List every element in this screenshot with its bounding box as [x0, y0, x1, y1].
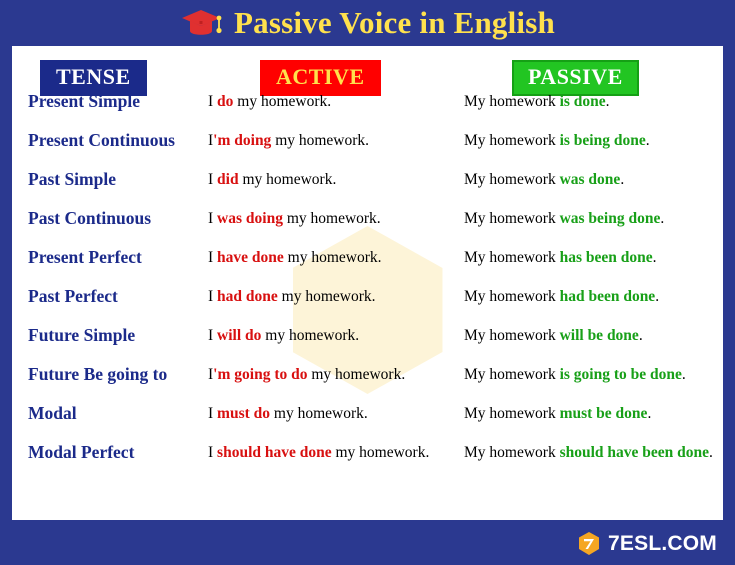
text-segment: my homework.: [278, 288, 376, 305]
text-segment: my homework.: [284, 249, 382, 266]
text-segment: .: [646, 132, 650, 149]
tense-label: Present Simple: [28, 92, 140, 111]
tense-label: Past Continuous: [28, 209, 151, 228]
text-segment: .: [709, 444, 713, 461]
table-row: ModalI must do my homework.My homework m…: [12, 404, 723, 443]
text-segment: had been done: [560, 288, 656, 305]
table-body: Present SimpleI do my homework.My homewo…: [12, 92, 723, 482]
header: Passive Voice in English: [0, 0, 735, 44]
text-segment: my homework.: [270, 405, 368, 422]
tense-label: Past Perfect: [28, 287, 118, 306]
table-row: Present SimpleI do my homework.My homewo…: [12, 92, 723, 131]
tense-label: Past Simple: [28, 170, 116, 189]
active-sentence: I did my homework.: [208, 170, 336, 189]
text-segment: must be done: [560, 405, 648, 422]
footer: 7ESL.COM: [0, 522, 735, 565]
text-segment: my homework.: [239, 171, 337, 188]
active-sentence: I have done my homework.: [208, 248, 382, 267]
text-segment: I: [208, 93, 217, 110]
text-segment: My homework: [464, 171, 560, 188]
tense-label: Present Perfect: [28, 248, 142, 267]
text-segment: 'm doing: [213, 132, 271, 149]
table-header-row: TENSE ACTIVE PASSIVE: [12, 46, 723, 92]
text-segment: did: [217, 171, 239, 188]
passive-sentence: My homework was being done.: [464, 209, 664, 228]
text-segment: .: [655, 288, 659, 305]
table-row: Future Be going toI'm going to do my hom…: [12, 365, 723, 404]
passive-sentence: My homework must be done.: [464, 404, 651, 423]
text-segment: I: [208, 444, 217, 461]
active-sentence: I should have done my homework.: [208, 443, 429, 462]
text-segment: will do: [217, 327, 261, 344]
text-segment: My homework: [464, 210, 560, 227]
text-segment: have done: [217, 249, 284, 266]
text-segment: I: [208, 405, 217, 422]
text-segment: .: [606, 93, 610, 110]
text-segment: should have done: [217, 444, 332, 461]
text-segment: I: [208, 288, 217, 305]
text-segment: is going to be done: [560, 366, 682, 383]
text-segment: my homework.: [271, 132, 369, 149]
passive-sentence: My homework is going to be done.: [464, 365, 686, 384]
table-row: Past ContinuousI was doing my homework.M…: [12, 209, 723, 248]
text-segment: will be done: [560, 327, 639, 344]
text-segment: I: [208, 171, 217, 188]
text-segment: was done: [560, 171, 621, 188]
passive-sentence: My homework had been done.: [464, 287, 659, 306]
text-segment: had done: [217, 288, 278, 305]
passive-sentence: My homework is done.: [464, 92, 610, 111]
page-title: Passive Voice in English: [234, 5, 555, 41]
tense-label: Modal Perfect: [28, 443, 134, 462]
text-segment: My homework: [464, 132, 560, 149]
text-segment: my homework.: [307, 366, 405, 383]
table-row: Modal PerfectI should have done my homew…: [12, 443, 723, 482]
table-card: TENSE ACTIVE PASSIVE Present SimpleI do …: [10, 44, 725, 522]
passive-sentence: My homework should have been done.: [464, 443, 713, 462]
table-row: Past SimpleI did my homework.My homework…: [12, 170, 723, 209]
text-segment: My homework: [464, 327, 560, 344]
text-segment: my homework.: [332, 444, 430, 461]
column-header-passive: PASSIVE: [512, 60, 639, 96]
passive-sentence: My homework has been done.: [464, 248, 656, 267]
text-segment: .: [647, 405, 651, 422]
passive-sentence: My homework is being done.: [464, 131, 650, 150]
tense-label: Modal: [28, 404, 77, 423]
text-segment: I: [208, 210, 217, 227]
text-segment: .: [653, 249, 657, 266]
table-content: TENSE ACTIVE PASSIVE Present SimpleI do …: [12, 46, 723, 482]
text-segment: .: [639, 327, 643, 344]
active-sentence: I'm doing my homework.: [208, 131, 369, 150]
text-segment: should have been done: [560, 444, 709, 461]
text-segment: I: [208, 327, 217, 344]
graduation-cap-icon: [180, 7, 222, 41]
text-segment: my homework.: [261, 327, 359, 344]
text-segment: My homework: [464, 249, 560, 266]
text-segment: is done: [560, 93, 606, 110]
table-row: Present ContinuousI'm doing my homework.…: [12, 131, 723, 170]
tense-label: Present Continuous: [28, 131, 175, 150]
active-sentence: I was doing my homework.: [208, 209, 381, 228]
text-segment: My homework: [464, 93, 560, 110]
table-row: Past PerfectI had done my homework.My ho…: [12, 287, 723, 326]
text-segment: my homework.: [233, 93, 331, 110]
logo-text: 7ESL.COM: [608, 532, 717, 556]
table-row: Future SimpleI will do my homework.My ho…: [12, 326, 723, 365]
active-sentence: I do my homework.: [208, 92, 331, 111]
tense-label: Future Simple: [28, 326, 135, 345]
text-segment: My homework: [464, 288, 560, 305]
text-segment: .: [682, 366, 686, 383]
text-segment: My homework: [464, 366, 560, 383]
text-segment: was being done: [560, 210, 661, 227]
text-segment: I: [208, 249, 217, 266]
text-segment: 'm going to do: [213, 366, 307, 383]
tense-label: Future Be going to: [28, 365, 167, 384]
active-sentence: I will do my homework.: [208, 326, 359, 345]
text-segment: my homework.: [283, 210, 381, 227]
table-row: Present PerfectI have done my homework.M…: [12, 248, 723, 287]
text-segment: My homework: [464, 405, 560, 422]
text-segment: .: [660, 210, 664, 227]
active-sentence: I'm going to do my homework.: [208, 365, 405, 384]
text-segment: is being done: [560, 132, 646, 149]
text-segment: has been done: [560, 249, 653, 266]
text-segment: do: [217, 93, 233, 110]
active-sentence: I had done my homework.: [208, 287, 376, 306]
text-segment: must do: [217, 405, 270, 422]
passive-sentence: My homework was done.: [464, 170, 624, 189]
active-sentence: I must do my homework.: [208, 404, 368, 423]
column-header-active: ACTIVE: [260, 60, 381, 96]
passive-sentence: My homework will be done.: [464, 326, 643, 345]
seven-esl-logo-icon: [577, 531, 601, 556]
text-segment: .: [620, 171, 624, 188]
text-segment: was doing: [217, 210, 283, 227]
infographic-page: Passive Voice in English TENSE ACTIVE PA…: [0, 0, 735, 565]
text-segment: My homework: [464, 444, 560, 461]
